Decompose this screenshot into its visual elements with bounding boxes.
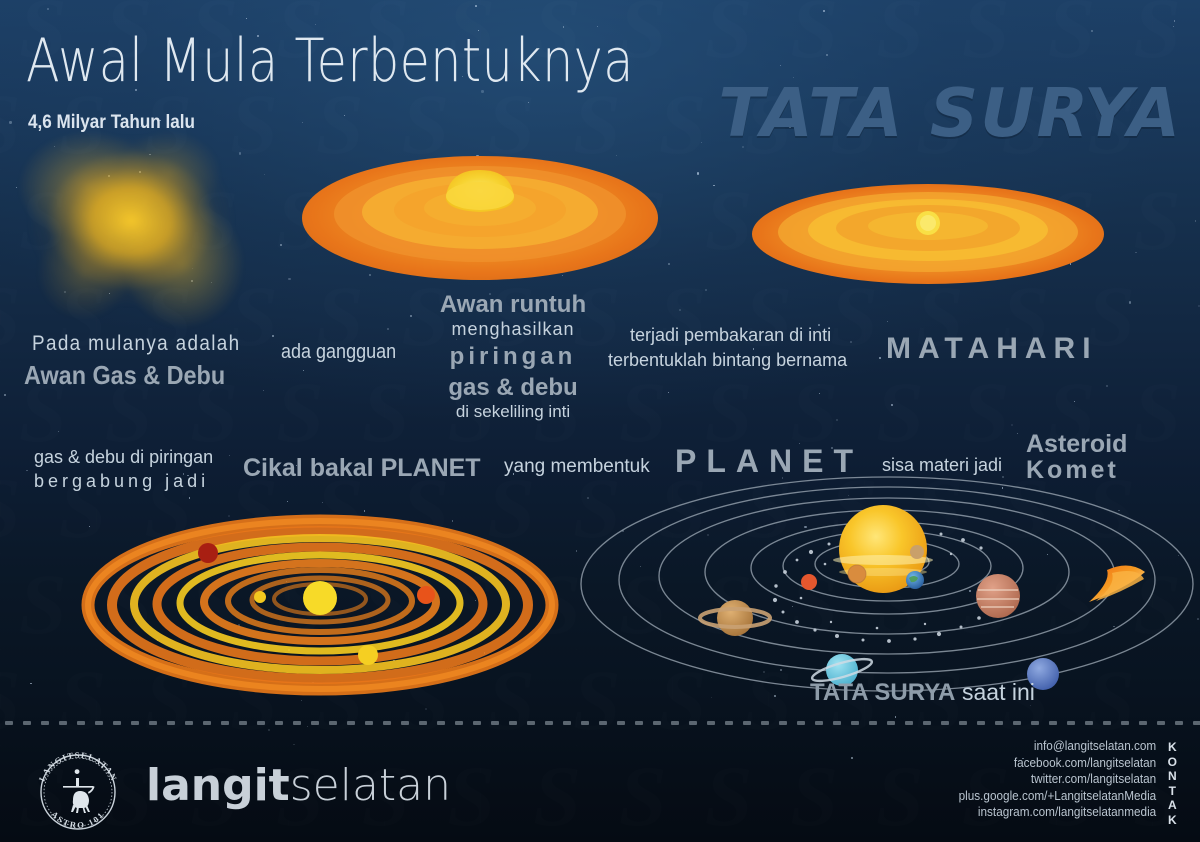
star-ignition-disk-illustration — [748, 176, 1108, 296]
label-ada-gangguan: ada gangguan — [281, 341, 396, 364]
protoplanetary-disk-illustration — [70, 505, 570, 705]
contact-twitter[interactable]: twitter.com/langitselatan — [958, 771, 1156, 788]
accretion-caption-line2: bergabung jadi — [34, 471, 209, 492]
accretion-caption-line1: gas & debu di piringan — [34, 447, 213, 468]
label-matahari: MATAHARI — [886, 332, 1098, 366]
contact-list: info@langitselatan.com facebook.com/lang… — [958, 738, 1156, 821]
jupiter — [976, 574, 1020, 618]
protoplanet-yellow — [358, 645, 378, 665]
kontak-letter-a: A — [1168, 798, 1178, 813]
cloud-caption-line2: Awan Gas & Debu — [24, 360, 225, 391]
proto-sun — [303, 581, 337, 615]
brand-light: selatan — [290, 760, 451, 811]
sun — [839, 505, 927, 593]
brand-wordmark: langitselatan — [146, 760, 451, 811]
asteroid-belt — [773, 527, 997, 643]
collapse-caption-line1: Awan runtuh — [420, 291, 606, 319]
infographic-canvas: SSSSSSSSSSSSSSSSSSSSSSSSSSSSSSSSSSSSSSSS… — [0, 0, 1200, 842]
mars — [801, 574, 817, 590]
kontak-letter-n: N — [1168, 769, 1178, 784]
kontak-letter-k2: K — [1168, 813, 1178, 828]
caption-tata-surya: TATA SURYA — [810, 679, 955, 706]
saturn — [717, 600, 753, 636]
footer-divider — [0, 721, 1200, 725]
collapsing-disk-illustration — [300, 140, 660, 290]
ignition-caption-line2: terbentuklah bintang bernama — [608, 350, 847, 371]
kontak-letter-t: T — [1168, 784, 1178, 799]
protoplanet-red — [198, 543, 218, 563]
contact-facebook[interactable]: facebook.com/langitselatan — [958, 755, 1156, 772]
centaur-archer-glyph — [63, 769, 95, 813]
contact-email[interactable]: info@langitselatan.com — [958, 738, 1156, 755]
kontak-letter-k1: K — [1168, 740, 1178, 755]
label-komet: Komet — [1026, 456, 1119, 485]
label-yang-membentuk: yang membentuk — [504, 456, 650, 478]
collapse-caption-line5: di sekeliling inti — [420, 402, 606, 422]
collapse-caption-line2: menghasilkan — [420, 319, 606, 340]
label-cikal-bakal-planet: Cikal bakal PLANET — [243, 454, 481, 483]
label-asteroid: Asteroid — [1026, 430, 1127, 459]
protoplanet-yellow-small — [254, 591, 266, 603]
solar-system-caption: TATA SURYA saat ini — [810, 679, 1035, 707]
collapse-caption-line3: piringan — [420, 343, 606, 371]
caption-saat-ini: saat ini — [962, 679, 1035, 705]
contact-instagram[interactable]: instagram.com/langitselatanmedia — [958, 804, 1156, 821]
gas-cloud-illustration — [18, 122, 254, 337]
collapse-caption-line4: gas & debu — [420, 374, 606, 402]
kontak-vertical-label: K O N T A K — [1168, 740, 1178, 827]
protoplanet-orange — [417, 586, 435, 604]
big-title-tata-surya: TATA SURYA — [718, 74, 1182, 152]
label-planet: PLANET — [675, 443, 863, 480]
ignition-caption-line1: terjadi pembakaran di inti — [630, 325, 831, 346]
kontak-letter-o: O — [1168, 755, 1178, 770]
earth — [906, 571, 924, 589]
cloud-caption-line1: Pada mulanya adalah — [32, 332, 240, 356]
page-subtitle: 4,6 Milyar Tahun lalu — [28, 112, 195, 134]
langitselatan-seal-logo: LANGITSELATAN ASTRO 101 — [32, 748, 124, 836]
page-title: Awal Mula Terbentuknya — [26, 26, 634, 96]
contact-google-plus[interactable]: plus.google.com/+LangitselatanMedia — [958, 788, 1156, 805]
venus — [848, 565, 866, 583]
brand-bold: langit — [146, 760, 290, 811]
comet — [1089, 565, 1145, 602]
mercury — [910, 545, 924, 559]
label-sisa-materi-jadi: sisa materi jadi — [882, 455, 1002, 476]
